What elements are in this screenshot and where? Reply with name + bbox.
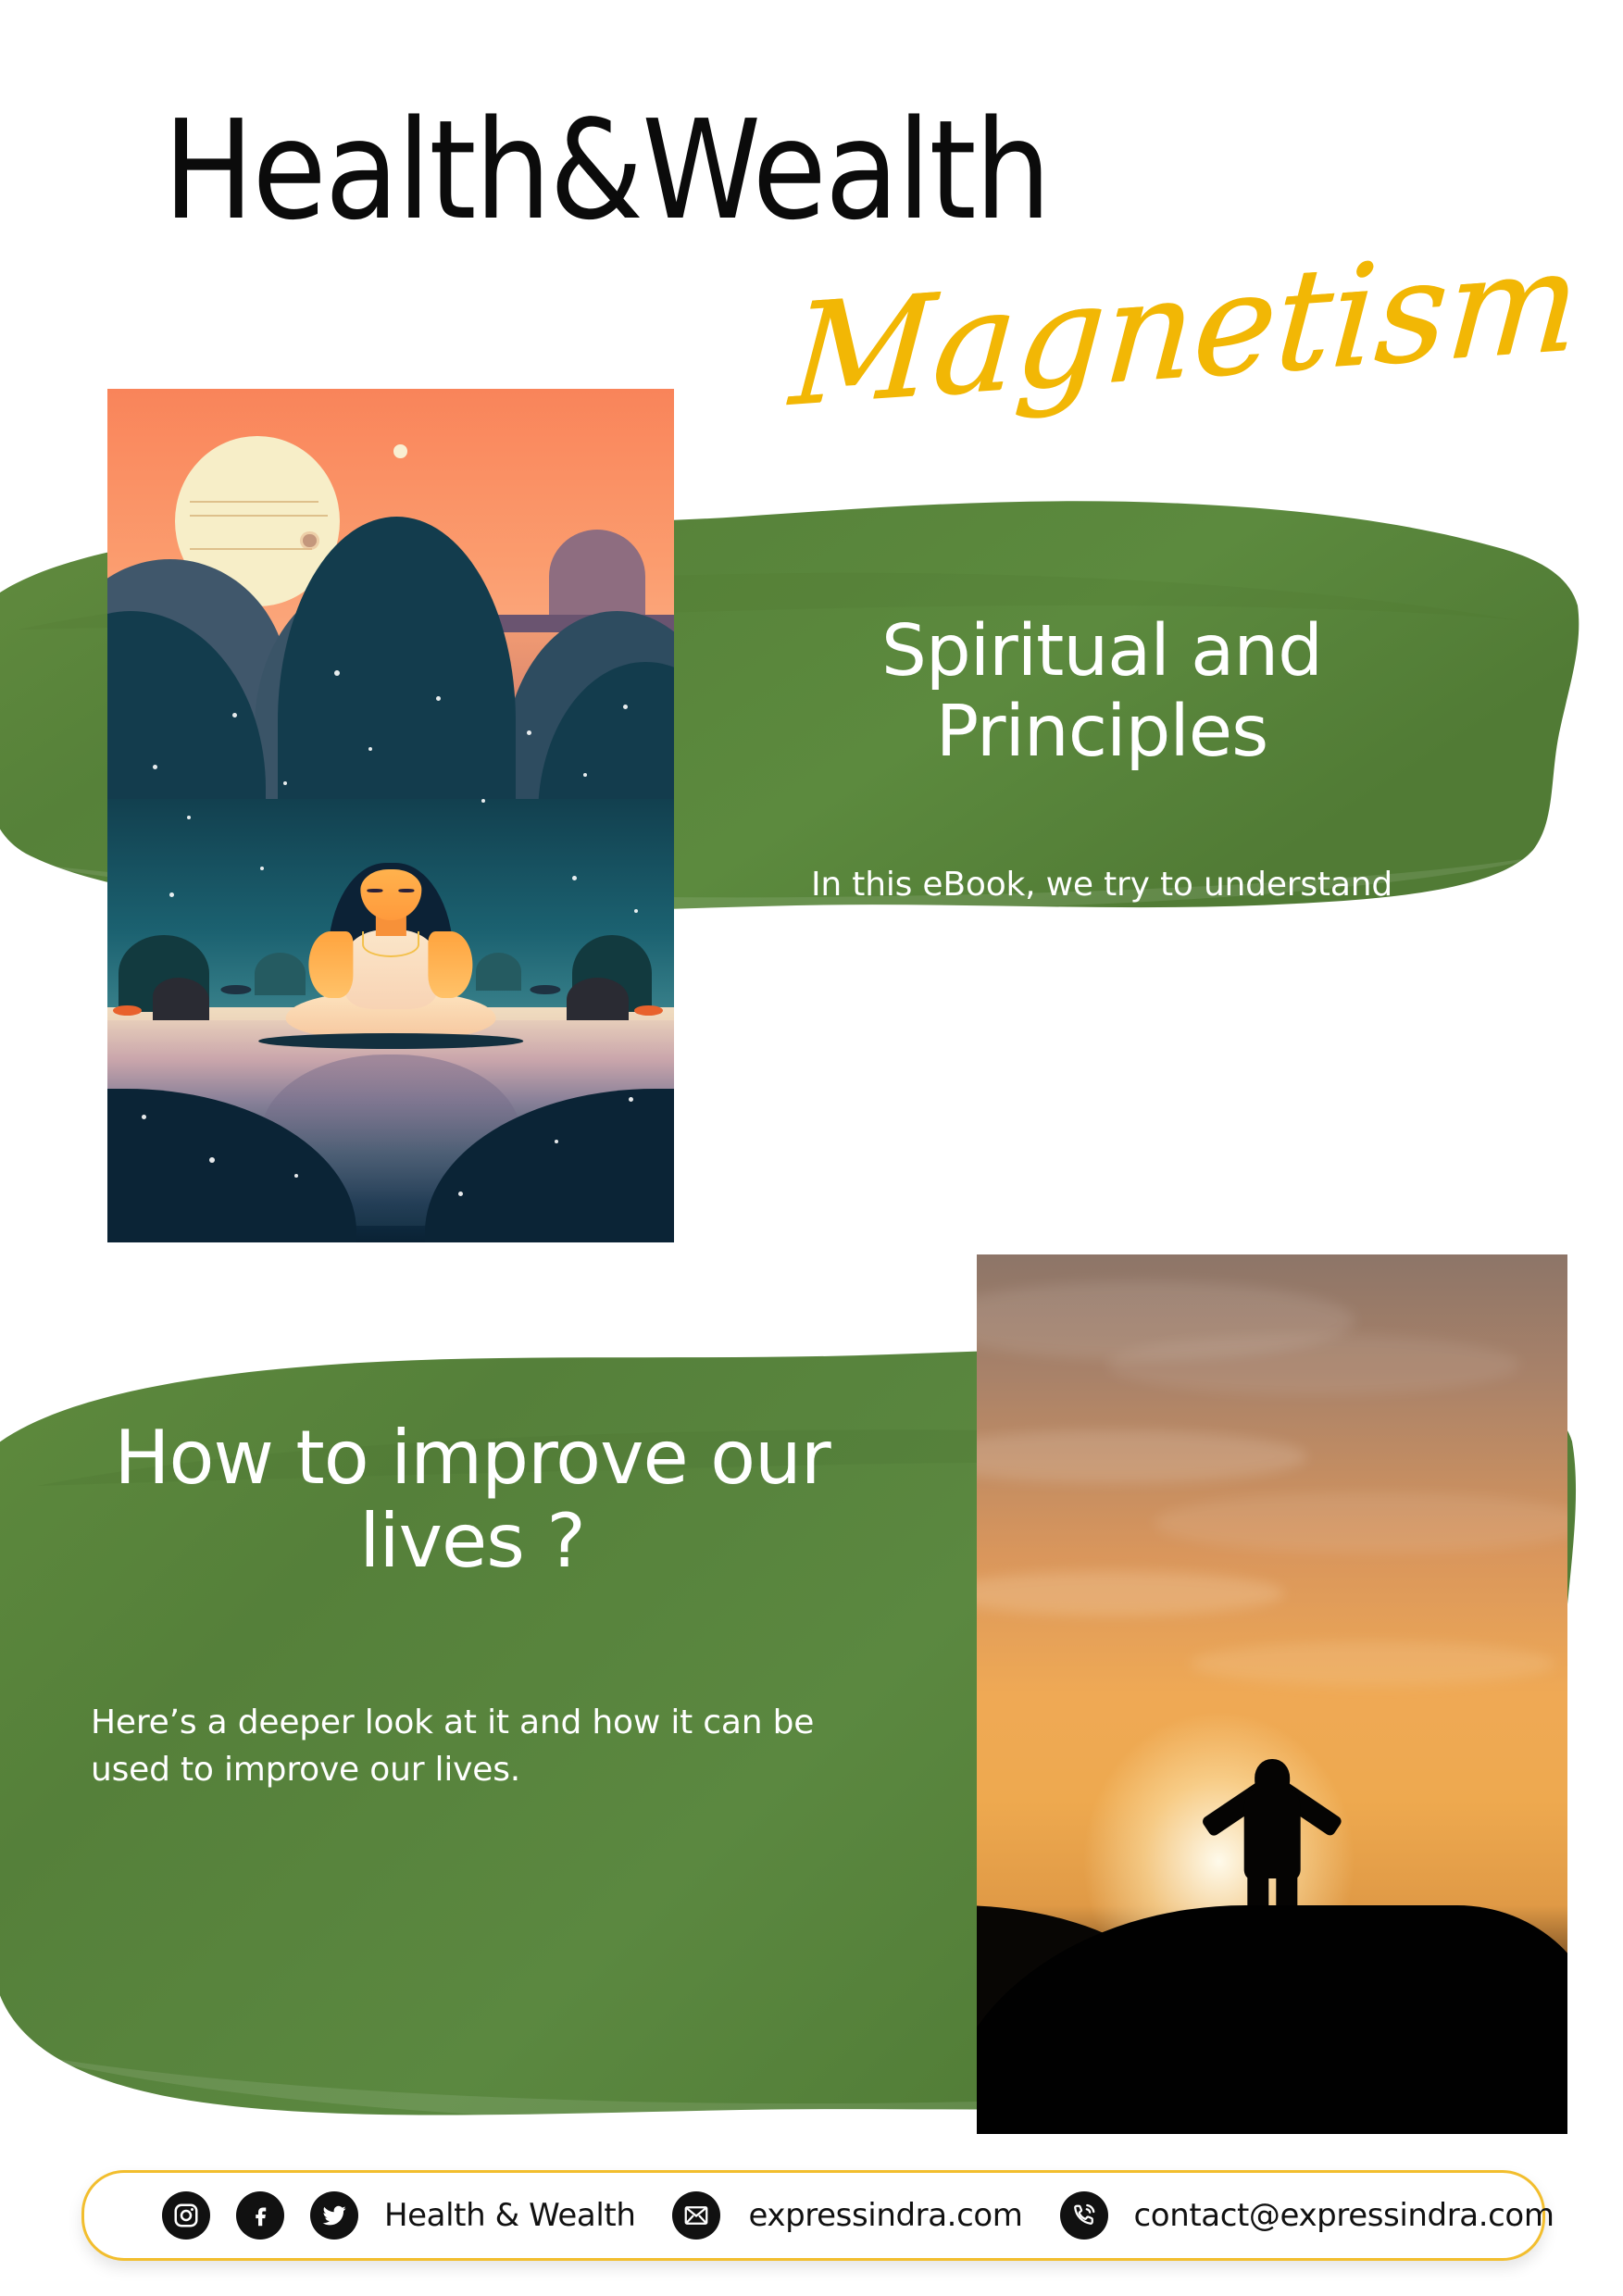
footer-website-label[interactable]: expressindra.com: [748, 2197, 1022, 2234]
twitter-icon[interactable]: [310, 2191, 358, 2240]
illustration-far-sun: [549, 530, 645, 623]
footer-handle-label: Health & Wealth: [384, 2197, 635, 2234]
phone-icon[interactable]: [1060, 2191, 1108, 2240]
page-title-script: Magnetism: [774, 231, 1596, 427]
sunset-photo: [977, 1254, 1567, 2134]
instagram-icon[interactable]: [162, 2191, 210, 2240]
illustration-hand: [531, 985, 561, 995]
photo-cloud: [1154, 1492, 1567, 1554]
photo-torso: [1243, 1789, 1300, 1878]
illustration-arm-left: [309, 931, 354, 998]
illustration-rock: [153, 978, 209, 1020]
illustration-campfire: [113, 1005, 142, 1016]
illustration-small-moon: [393, 444, 407, 458]
photo-cloud: [1190, 1641, 1556, 1686]
envelope-icon[interactable]: [672, 2191, 720, 2240]
facebook-icon[interactable]: [236, 2191, 284, 2240]
illustration-campfire: [634, 1005, 663, 1016]
page-title-main: Health&Wealth: [73, 102, 1141, 239]
section-body-spiritual: In this eBook, we try to understand thes…: [768, 861, 1435, 955]
footer-contact-bar: Health & Wealth expressindra.com contact…: [81, 2170, 1545, 2261]
illustration-meditating-woman: [220, 863, 560, 1085]
illustration-meditation-mat: [258, 1033, 523, 1049]
poster-canvas: Health&Wealth Magnetism: [0, 0, 1623, 2296]
illustration-ringed-planet: [303, 534, 317, 548]
footer-contact-label[interactable]: contact@expressindra.com: [1134, 2197, 1554, 2234]
illustration-arm-right: [428, 931, 472, 998]
meditation-illustration: [107, 389, 674, 1242]
illustration-hand: [220, 985, 251, 995]
photo-cloud: [977, 1571, 1284, 1616]
section-body-howto: Here’s a deeper look at it and how it ca…: [91, 1699, 850, 1793]
section-heading-howto: How to improve our lives ?: [28, 1416, 917, 1584]
illustration-eye: [399, 889, 415, 892]
photo-cloud: [1106, 1334, 1520, 1396]
illustration-rock: [567, 978, 629, 1022]
photo-cloud: [977, 1430, 1307, 1483]
section-heading-spiritual: Spiritual and Principles: [759, 611, 1444, 772]
illustration-eye: [367, 889, 382, 892]
